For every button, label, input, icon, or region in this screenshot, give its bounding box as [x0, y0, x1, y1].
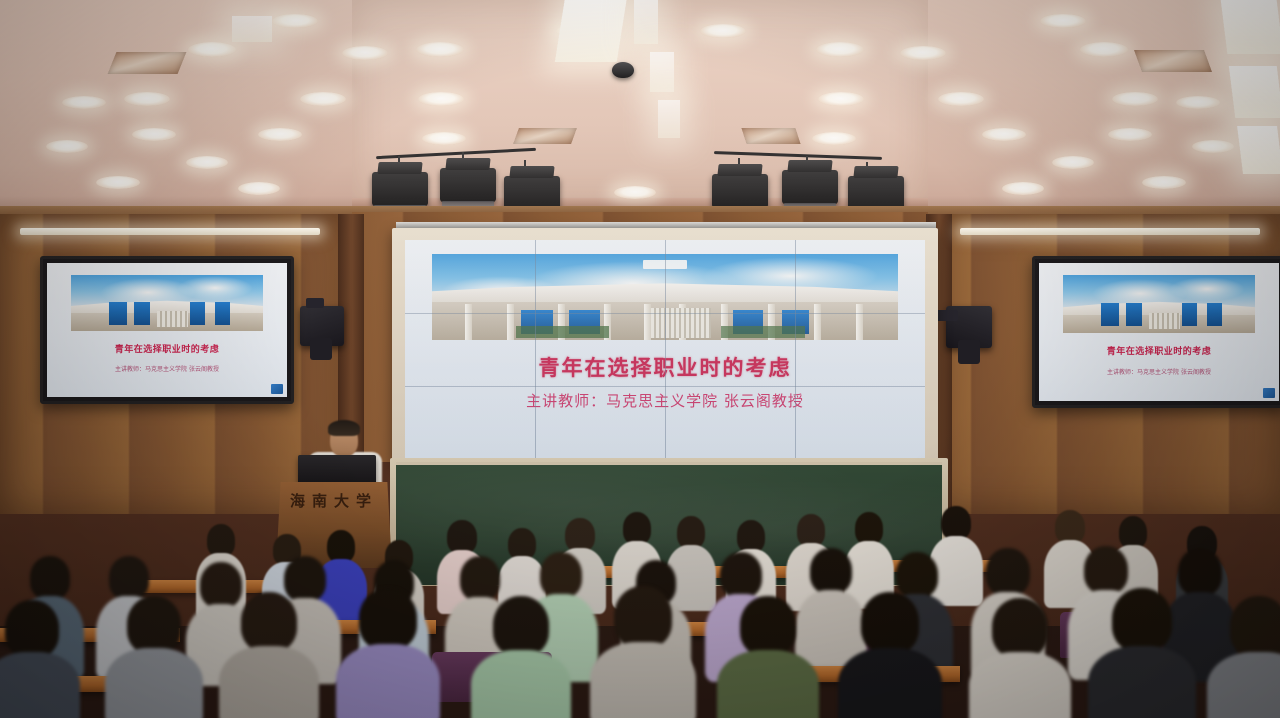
right-monitor-photo	[1063, 275, 1255, 333]
stage-light-icon	[504, 176, 560, 210]
audience-person	[724, 596, 812, 718]
broadcast-logo-icon	[1263, 388, 1275, 398]
ceiling-vent	[513, 128, 577, 144]
audience-person	[1096, 588, 1188, 718]
ceiling-skylight-panel	[555, 0, 627, 62]
stage-light-icon	[712, 174, 768, 208]
ceiling-downlight	[96, 176, 140, 189]
ceiling-downlight	[812, 132, 856, 145]
ceiling-downlight	[982, 128, 1026, 141]
ceiling-downlight	[238, 182, 280, 195]
ceiling-downlight	[300, 92, 346, 106]
audience-person	[0, 600, 74, 718]
ceiling-skylight-panel	[232, 16, 272, 42]
ceiling-skylight-panel	[1229, 66, 1280, 118]
left-monitor-subtitle: 主讲教师：马克思主义学院 张云阁教授	[47, 364, 287, 373]
ceiling-downlight	[422, 132, 466, 145]
ceiling-skylight-panel	[650, 52, 674, 92]
audience-person	[1214, 596, 1280, 718]
ceiling-downlight	[258, 128, 302, 141]
left-monitor-title: 青年在选择职业时的考虑	[47, 342, 287, 355]
left-monitor-photo	[71, 275, 263, 331]
audience-person	[846, 592, 934, 718]
ceiling-downlight	[1142, 176, 1186, 189]
ceiling-downlight	[700, 24, 746, 38]
ceiling-vent	[741, 128, 800, 144]
right-monitor[interactable]: 青年在选择职业时的考虑 主讲教师：马克思主义学院 张云阁教授	[1032, 256, 1280, 408]
video-wall-seam	[535, 240, 536, 458]
ceiling-vent	[1134, 50, 1212, 72]
ceiling-downlight	[1080, 42, 1128, 57]
right-monitor-screen: 青年在选择职业时的考虑 主讲教师：马克思主义学院 张云阁教授	[1039, 263, 1279, 401]
ceiling-downlight	[418, 92, 464, 106]
ceiling-skylight-panel	[1221, 0, 1280, 54]
ceiling-downlight	[46, 140, 88, 153]
wall-camera-right-icon	[946, 306, 992, 348]
ceiling-downlight	[938, 92, 984, 106]
video-wall-screen[interactable]: 青年在选择职业时的考虑 主讲教师：马克思主义学院 张云阁教授	[405, 240, 925, 458]
ceiling-downlight	[818, 92, 864, 106]
video-wall-seam	[405, 386, 925, 387]
ceiling-skylight-panel	[634, 0, 658, 44]
ceiling-downlight	[1176, 96, 1220, 109]
wall-camera-left-icon	[300, 306, 344, 346]
video-wall-seam	[665, 240, 666, 458]
audience-person	[598, 586, 688, 718]
ceiling-vent	[108, 52, 187, 74]
wall-strip-light	[20, 228, 320, 235]
video-wall-seam	[405, 313, 925, 314]
wall-strip-light	[960, 228, 1260, 235]
right-monitor-title: 青年在选择职业时的考虑	[1039, 344, 1279, 357]
ceiling-downlight	[342, 46, 388, 60]
podium-label: 海南大学	[276, 490, 392, 511]
stage-light-icon	[782, 170, 838, 204]
audience-person	[226, 592, 312, 718]
ceiling-downlight	[1112, 92, 1158, 106]
ceiling-downlight	[186, 156, 228, 169]
ceiling-downlight	[1002, 182, 1044, 195]
ceiling-skylight-panel	[1237, 126, 1280, 174]
ceiling-downlight	[900, 46, 946, 60]
dome-camera-icon	[612, 62, 634, 78]
stage-light-icon	[372, 172, 428, 206]
ceiling-downlight	[62, 96, 106, 109]
video-wall-seam	[795, 240, 796, 458]
ceiling-downlight	[188, 42, 236, 57]
audience-person	[112, 596, 196, 718]
audience-person	[478, 596, 564, 718]
ceiling-downlight	[1108, 128, 1152, 141]
ceiling-downlight	[1040, 14, 1086, 28]
ceiling-downlight	[272, 14, 318, 28]
audience-person	[344, 588, 432, 718]
ceiling-downlight	[124, 92, 170, 106]
speaker-hair	[328, 420, 360, 436]
right-monitor-subtitle: 主讲教师：马克思主义学院 张云阁教授	[1039, 367, 1279, 376]
ceiling-downlight	[416, 42, 464, 57]
lecture-hall-photo: 青年在选择职业时的考虑 主讲教师：马克思主义学院 张云阁教授	[0, 0, 1280, 718]
ceiling-downlight	[132, 128, 176, 141]
audience-person	[976, 598, 1064, 718]
ceiling-downlight	[1192, 140, 1234, 153]
stage-light-icon	[848, 176, 904, 210]
stage-light-icon	[440, 168, 496, 202]
left-monitor-screen: 青年在选择职业时的考虑 主讲教师：马克思主义学院 张云阁教授	[47, 263, 287, 397]
broadcast-logo-icon	[271, 384, 283, 394]
ceiling-skylight-panel	[658, 100, 680, 138]
ceiling	[0, 0, 1280, 236]
ceiling-downlight	[1052, 156, 1094, 169]
ceiling-downlight	[816, 42, 864, 57]
left-monitor[interactable]: 青年在选择职业时的考虑 主讲教师：马克思主义学院 张云阁教授	[40, 256, 294, 404]
